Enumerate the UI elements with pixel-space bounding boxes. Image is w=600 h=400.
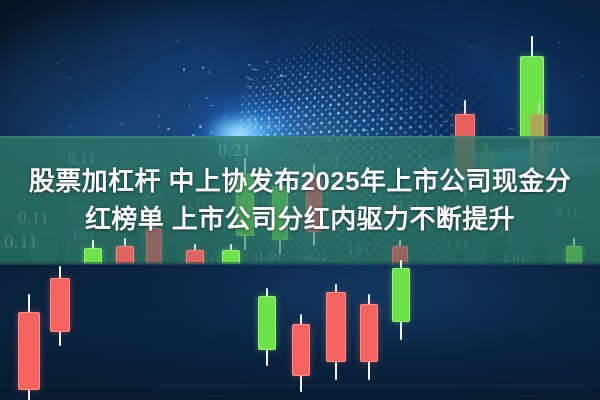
particle — [252, 68, 258, 70]
particle — [281, 75, 283, 77]
panel-hairline — [0, 264, 600, 265]
particle — [177, 40, 179, 41]
headline-line-1: 股票加杠杆 中上协发布2025年上市公司现金分 — [29, 165, 571, 197]
particle — [199, 125, 201, 128]
candle-body — [18, 312, 40, 390]
particle — [202, 66, 204, 69]
panel-hairline — [0, 396, 600, 397]
particle — [43, 31, 45, 33]
candlestick — [326, 284, 346, 380]
candlestick — [18, 294, 40, 400]
headline-text-block: 股票加杠杆 中上协发布2025年上市公司现金分 红榜单 上市公司分红内驱力不断提… — [0, 136, 600, 264]
particle — [183, 68, 186, 71]
particle — [393, 114, 395, 117]
candle-body — [258, 296, 276, 350]
candle-body — [360, 304, 378, 362]
particle — [284, 94, 287, 97]
candle-body — [392, 268, 410, 322]
candlestick — [258, 288, 276, 366]
particle — [294, 110, 296, 112]
particle — [262, 87, 264, 89]
candle-body — [326, 292, 346, 362]
particle — [158, 115, 161, 117]
news-banner-image: 0.111.010.110.111.011.011.110.110.110.21… — [0, 0, 600, 400]
particle — [248, 64, 250, 67]
candle-body — [50, 278, 70, 332]
particle — [392, 108, 393, 109]
headline-line-2: 红榜单 上市公司分红内驱力不断提升 — [85, 203, 515, 235]
candlestick — [50, 266, 70, 346]
candlestick — [292, 314, 310, 392]
particle — [167, 128, 169, 130]
candle-body — [292, 324, 310, 376]
particle — [272, 88, 275, 90]
candlestick — [360, 294, 378, 380]
price-number: 0.11 — [248, 112, 284, 135]
candlestick — [392, 260, 410, 340]
particle — [178, 120, 179, 122]
